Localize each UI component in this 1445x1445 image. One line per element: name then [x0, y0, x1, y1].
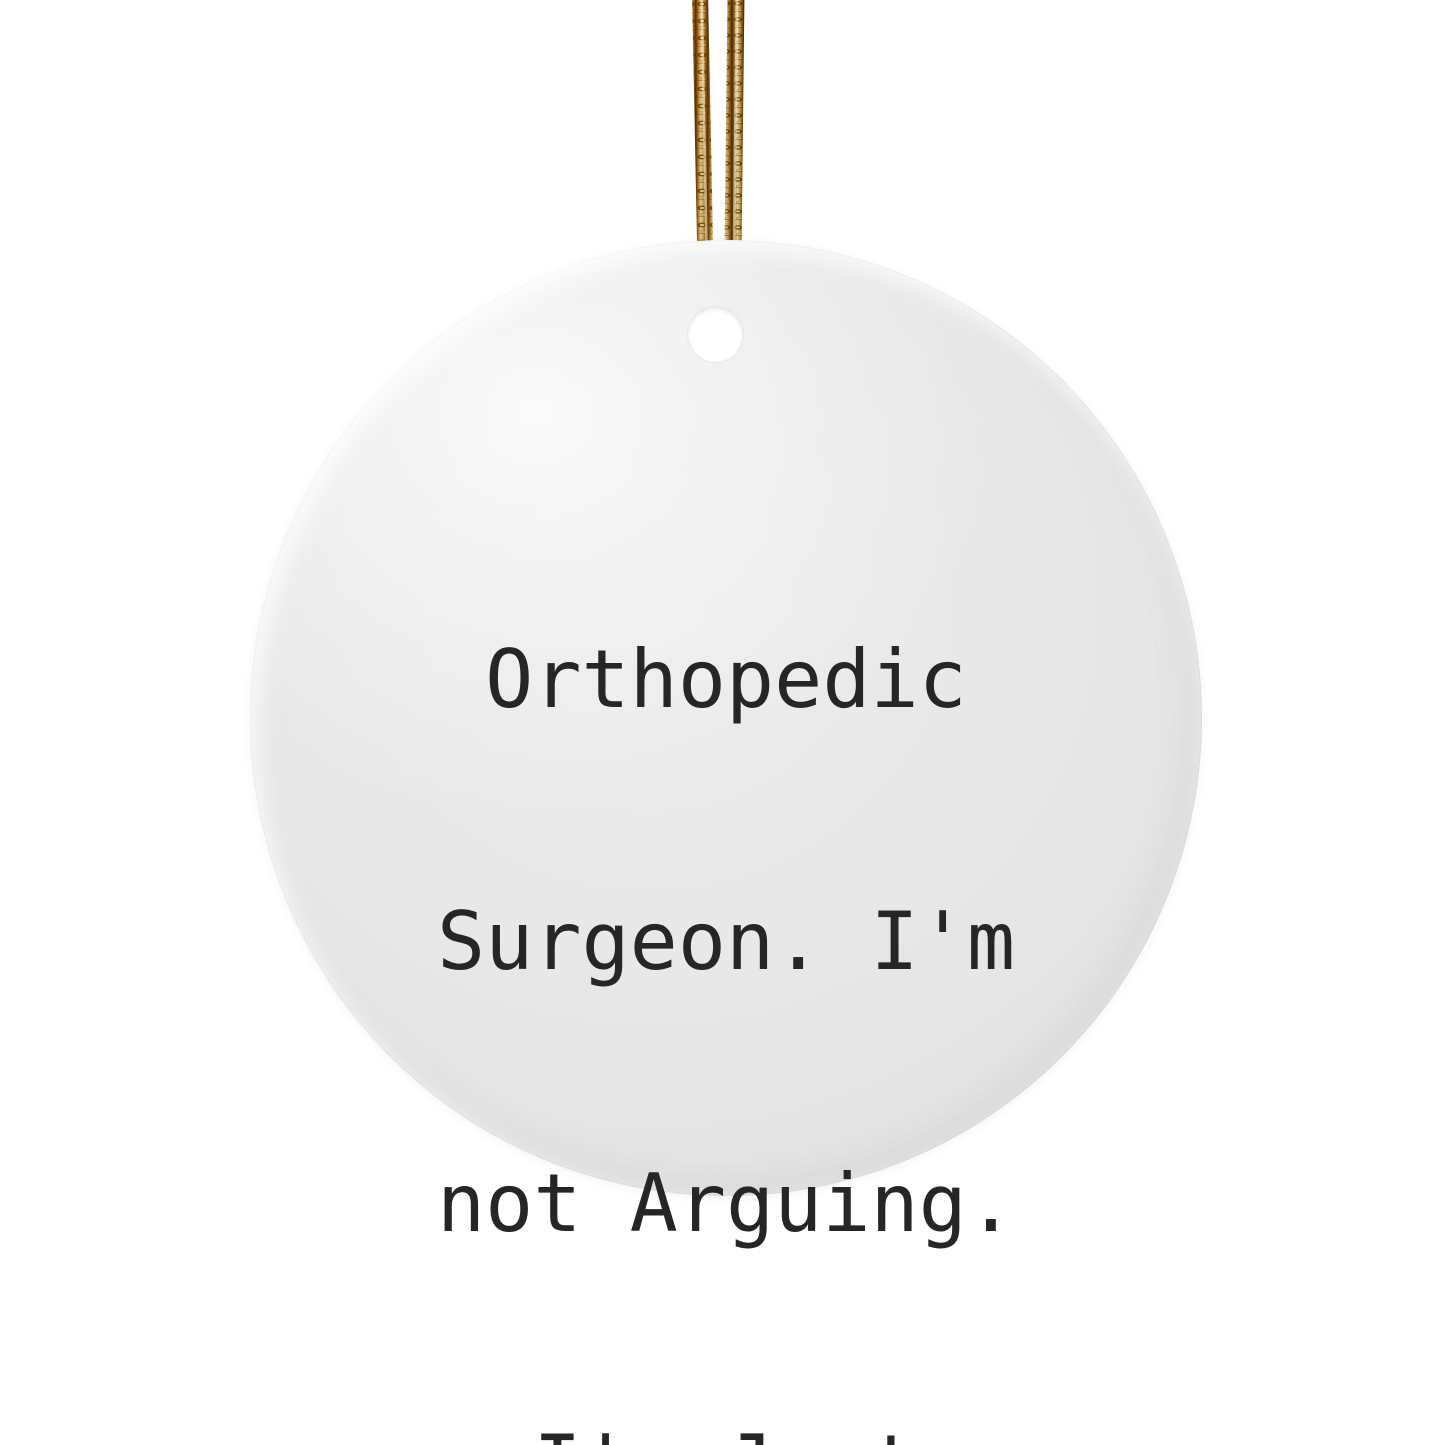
- quote-line-4: I'm Just: [355, 1421, 1097, 1445]
- quote-line-2: Surgeon. I'm: [355, 898, 1097, 985]
- quote-line-1: Orthopedic: [355, 636, 1097, 723]
- quote-line-3: not Arguing.: [355, 1160, 1097, 1247]
- product-photo-canvas: Orthopedic Surgeon. I'm not Arguing. I'm…: [0, 0, 1445, 1445]
- ornament-quote-text: Orthopedic Surgeon. I'm not Arguing. I'm…: [355, 462, 1097, 1445]
- hanging-hole: [688, 307, 743, 362]
